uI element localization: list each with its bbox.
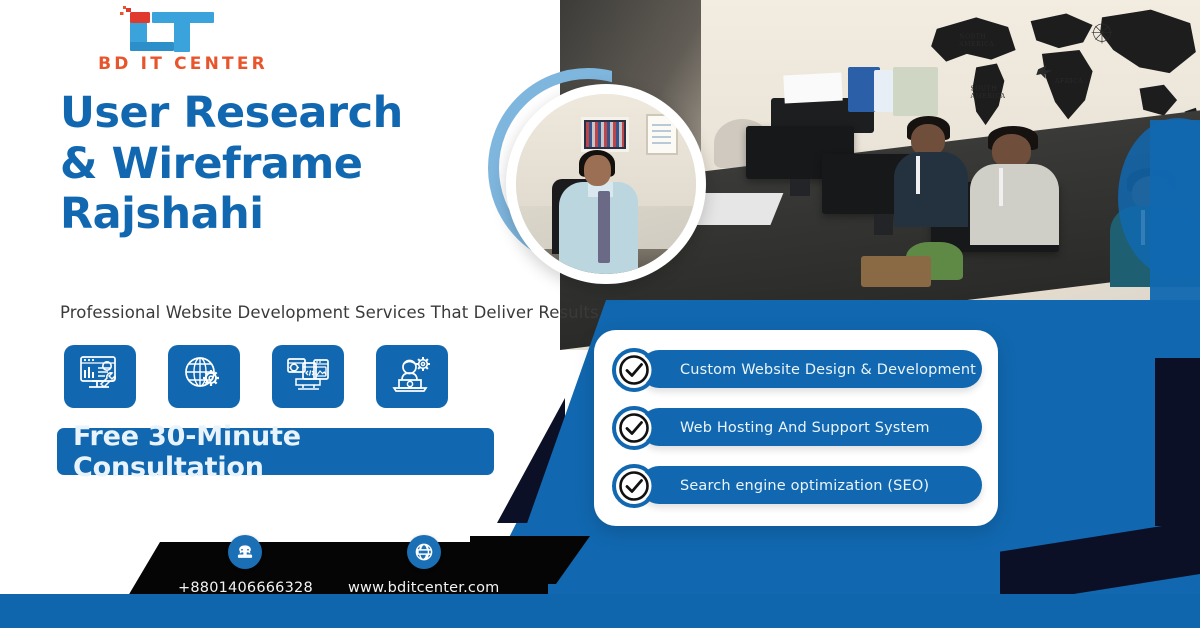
headline-line-3: Rajshahi: [60, 189, 520, 240]
service-tile-global[interactable]: [168, 345, 240, 408]
phone-number: +8801406666328: [178, 580, 313, 596]
svg-text:SOUTH: SOUTH: [971, 85, 998, 92]
page-title: User Research & Wireframe Rajshahi: [60, 88, 520, 240]
portrait-tie: [598, 191, 610, 263]
monitor-1-stand: [790, 179, 809, 197]
svg-text:AMERICA: AMERICA: [959, 41, 995, 48]
printer-paper: [783, 72, 842, 103]
feature-label-3: Search engine optimization (SEO): [680, 478, 929, 494]
svg-text:NORTH: NORTH: [960, 33, 987, 40]
check-circle-icon: [612, 464, 656, 508]
svg-text:AFRICA: AFRICA: [1054, 78, 1083, 85]
analytics-wrench-icon: [78, 354, 122, 399]
feature-item-1[interactable]: Custom Website Design & Development: [612, 346, 982, 394]
telephone-icon: [228, 535, 262, 569]
portrait-white-ring: [506, 84, 706, 284]
service-icons-row: [64, 345, 448, 408]
portrait-face: [584, 155, 611, 186]
feature-label-1: Custom Website Design & Development: [680, 362, 976, 378]
svg-text:AMERICA: AMERICA: [970, 93, 1006, 100]
contact-phone[interactable]: +8801406666328: [178, 535, 313, 596]
cta-button[interactable]: Free 30-Minute Consultation: [57, 428, 494, 475]
developer-support-icon: [390, 354, 434, 399]
headline-line-2: & Wireframe: [60, 139, 520, 190]
logo-company-name: BD IT CENTER: [68, 54, 298, 74]
feature-item-2[interactable]: Web Hosting And Support System: [612, 404, 982, 452]
company-logo[interactable]: BD IT CENTER: [96, 6, 271, 78]
cta-button-label: Free 30-Minute Consultation: [73, 421, 494, 483]
service-tile-support[interactable]: [376, 345, 448, 408]
globe-icon: [407, 535, 441, 569]
feature-item-3[interactable]: Search engine optimization (SEO): [612, 462, 982, 510]
portrait-certificate-frame: [646, 114, 678, 155]
check-circle-icon: [612, 406, 656, 450]
feature-label-2: Web Hosting And Support System: [680, 420, 930, 436]
navy-strip-right: [1155, 358, 1200, 526]
globe-gear-icon: [182, 354, 226, 399]
folder-stack: [893, 67, 938, 116]
team-member-1: [893, 116, 970, 228]
service-tile-webdesign[interactable]: [272, 345, 344, 408]
subheadline: Professional Website Development Service…: [60, 303, 580, 322]
website-url: www.bditcenter.com: [348, 580, 499, 596]
portrait-group-photo-frame: [581, 117, 630, 151]
logo-mark: [96, 6, 271, 58]
service-tile-analytics[interactable]: [64, 345, 136, 408]
footer-bar: [0, 594, 1200, 628]
monitor-2-stand: [874, 214, 893, 235]
check-circle-icon: [612, 348, 656, 392]
contact-website[interactable]: www.bditcenter.com: [348, 535, 499, 596]
contact-row: +8801406666328 www.bditcenter.com: [128, 516, 598, 596]
headline-line-1: User Research: [60, 88, 520, 139]
team-member-2: [970, 126, 1060, 245]
portrait-circle: [488, 68, 704, 284]
desk-planter: [861, 256, 931, 288]
web-design-code-icon: [286, 354, 330, 399]
features-card: Custom Website Design & Development Web …: [594, 330, 998, 526]
marketing-banner: NORTHAMERICA SOUTHAMERICA AFRICA OCEANIA: [0, 0, 1200, 628]
portrait-photo: [516, 94, 696, 274]
